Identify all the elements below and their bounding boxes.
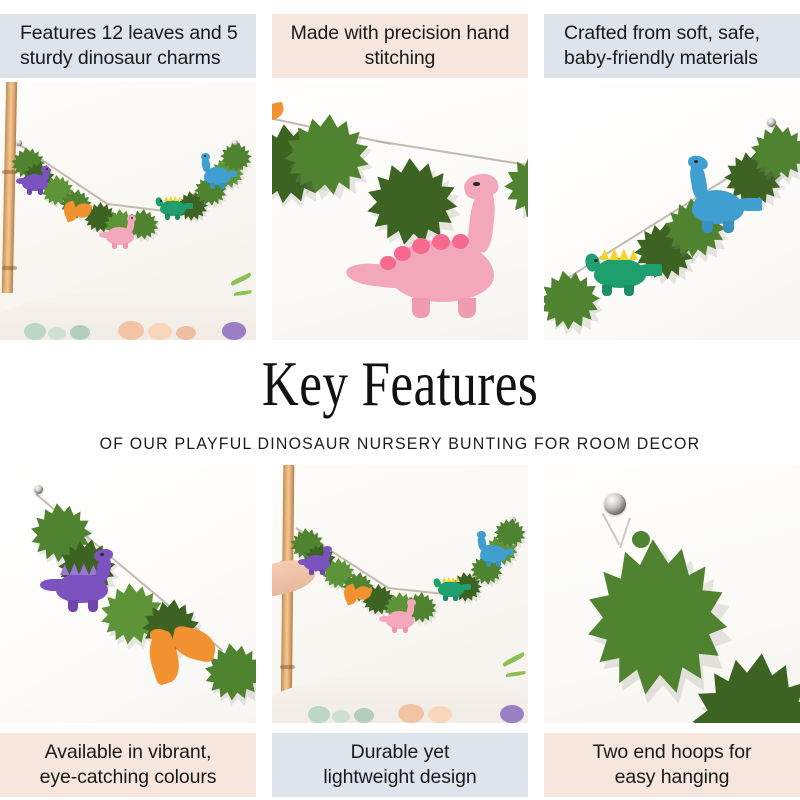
dino-tail <box>345 261 405 289</box>
dino-charm-pink-large <box>390 240 494 302</box>
dino-charm-orange-pterodactyl <box>64 202 92 222</box>
dino-tail <box>182 203 193 209</box>
dino-leg <box>702 221 713 233</box>
garland-string <box>376 140 528 167</box>
end-hoop-top-left <box>34 485 43 494</box>
caption-baby-safe-text: Crafted from soft, safe, baby-friendly m… <box>564 21 760 71</box>
dino-eye <box>204 155 206 157</box>
dino-back-plate <box>432 234 450 250</box>
caption-band-leaves-charms: Features 12 leaves and 5 sturdy dinosaur… <box>0 14 256 78</box>
caption-band-durable-lightweight: Durable yet lightweight design <box>272 733 528 797</box>
page-subtitle: OF OUR PLAYFUL DINOSAUR NURSERY BUNTING … <box>14 434 786 454</box>
dino-eye <box>694 160 698 163</box>
end-hoop-left <box>16 140 22 146</box>
photo-4-scene <box>0 465 256 723</box>
feature-collage: Features 12 leaves and 5 sturdy dinosaur… <box>0 0 800 800</box>
photo-5-scene <box>272 465 528 723</box>
dino-leg <box>496 561 501 567</box>
caption-band-hand-stitching: Made with precision hand stitching <box>272 14 528 78</box>
dino-leg <box>412 298 430 318</box>
photo-6-scene <box>544 465 800 723</box>
dino-eye <box>473 182 480 186</box>
pom-pom <box>398 704 424 723</box>
leaf <box>582 535 732 700</box>
dino-leg <box>624 285 634 296</box>
plant-sprig <box>506 671 526 677</box>
caption-durable-lightweight-text: Durable yet lightweight design <box>323 740 476 790</box>
wooden-ladder-rail <box>2 82 18 293</box>
pom-pom <box>148 323 172 340</box>
photo-full-garland-nursery <box>0 82 256 340</box>
dino-leg <box>210 183 215 189</box>
dino-tail <box>460 584 471 590</box>
dino-tail <box>99 232 110 238</box>
dino-leg <box>486 561 491 567</box>
dino-charm-blue <box>480 545 507 563</box>
dino-leg <box>392 627 397 633</box>
dino-leg <box>38 189 43 195</box>
end-hoop-top-right <box>767 118 776 127</box>
dino-leg <box>88 600 98 612</box>
pom-pom <box>176 326 196 340</box>
dino-tail <box>503 549 513 555</box>
dino-tail <box>298 559 308 565</box>
caption-vibrant-colours-text: Available in vibrant, eye-catching colou… <box>40 740 217 790</box>
dino-head <box>462 170 501 202</box>
end-hoop-closeup <box>604 493 626 515</box>
pom-pom <box>222 322 246 340</box>
dino-leg <box>443 596 448 601</box>
dino-back-plate <box>394 246 411 261</box>
title-block: Key Features OF OUR PLAYFUL DINOSAUR NUR… <box>0 352 800 454</box>
dino-charm-green <box>438 581 464 597</box>
dino-leg <box>112 243 117 249</box>
dino-leg <box>220 183 225 189</box>
dino-leg <box>458 298 476 318</box>
ladder-rung <box>2 170 17 174</box>
dino-head <box>323 546 332 552</box>
dino-tail <box>734 198 762 211</box>
pom-pom <box>308 706 330 723</box>
pom-pom <box>118 321 144 340</box>
dino-leg <box>453 596 458 601</box>
plant-sprig <box>502 652 526 667</box>
dino-back-plate <box>452 234 469 249</box>
photo-3-scene <box>544 82 800 340</box>
dino-eye <box>160 200 162 202</box>
photo-2-scene <box>272 82 528 340</box>
dino-eye <box>46 168 48 170</box>
dino-leg <box>320 570 325 575</box>
caption-leaves-charms-text: Features 12 leaves and 5 sturdy dinosaur… <box>20 21 238 71</box>
photo-hand-holding-garland <box>272 465 528 723</box>
dino-leg <box>602 285 612 296</box>
photo-purple-orange-dinos <box>0 465 256 723</box>
dino-charm-blue <box>204 167 231 185</box>
pom-pom <box>354 708 374 723</box>
hoop-wire <box>619 517 631 548</box>
dino-charm-orange-pterodactyl <box>344 585 372 605</box>
dino-tail <box>16 178 26 184</box>
photo-pink-dino-closeup <box>272 82 528 340</box>
plant-sprig <box>234 290 252 296</box>
dino-body <box>160 200 186 216</box>
dino-charm-purple <box>22 174 48 191</box>
caption-hand-stitching-text: Made with precision hand stitching <box>291 21 510 71</box>
dino-charm-green-stegosaurus <box>594 258 646 288</box>
caption-band-end-hoops: Two end hoops for easy hanging <box>544 733 800 797</box>
photo-diagonal-garland-green-blue <box>544 82 800 340</box>
pom-pom <box>500 705 524 723</box>
dino-back-plate <box>380 256 396 270</box>
pom-pom <box>48 327 66 340</box>
dino-leg <box>123 243 128 249</box>
ladder-rung <box>2 266 17 270</box>
dino-tail <box>40 579 66 591</box>
dino-leg <box>403 627 408 633</box>
dino-leg <box>175 214 180 220</box>
dino-head <box>407 599 416 606</box>
dino-leg <box>309 570 314 575</box>
caption-band-baby-safe: Crafted from soft, safe, baby-friendly m… <box>544 14 800 78</box>
caption-band-vibrant-colours: Available in vibrant, eye-catching colou… <box>0 733 256 797</box>
dino-back-plate <box>412 238 430 254</box>
dino-charm-purple-stegosaurus <box>56 573 108 603</box>
pom-pom <box>332 710 350 723</box>
dino-tail <box>636 264 662 276</box>
dino-tail <box>227 171 237 177</box>
photo-hoop-closeup <box>544 465 800 723</box>
dino-leg <box>27 189 32 195</box>
dino-charm-orange-pterodactyl-large <box>150 629 216 683</box>
dino-charm-pink <box>386 611 414 629</box>
page-title: Key Features <box>80 352 720 416</box>
pom-pom <box>428 706 452 723</box>
dino-charm-pink <box>106 227 134 245</box>
pom-pom <box>24 323 46 340</box>
dino-charm-orange-partial <box>272 104 286 122</box>
dino-leg <box>68 600 78 612</box>
dino-eye <box>100 553 104 556</box>
dino-charm-blue-brontosaurus <box>692 190 744 224</box>
dino-leg <box>723 221 734 233</box>
dino-body <box>438 581 464 597</box>
dino-head <box>477 531 486 538</box>
plant-sprig <box>230 272 252 286</box>
ladder-rung <box>280 665 295 669</box>
caption-end-hoops-text: Two end hoops for easy hanging <box>593 740 752 790</box>
pom-pom <box>70 325 90 340</box>
dino-tail <box>379 616 390 622</box>
dino-charm-green <box>160 200 186 216</box>
dino-eye <box>594 259 598 262</box>
ptero-wing <box>272 102 285 123</box>
dino-eye <box>131 217 133 219</box>
leaf-stem-tab <box>632 531 650 548</box>
hoop-wire <box>602 513 621 546</box>
dino-leg <box>165 214 170 220</box>
dino-charm-purple <box>304 555 330 571</box>
photo-1-scene <box>0 82 256 340</box>
